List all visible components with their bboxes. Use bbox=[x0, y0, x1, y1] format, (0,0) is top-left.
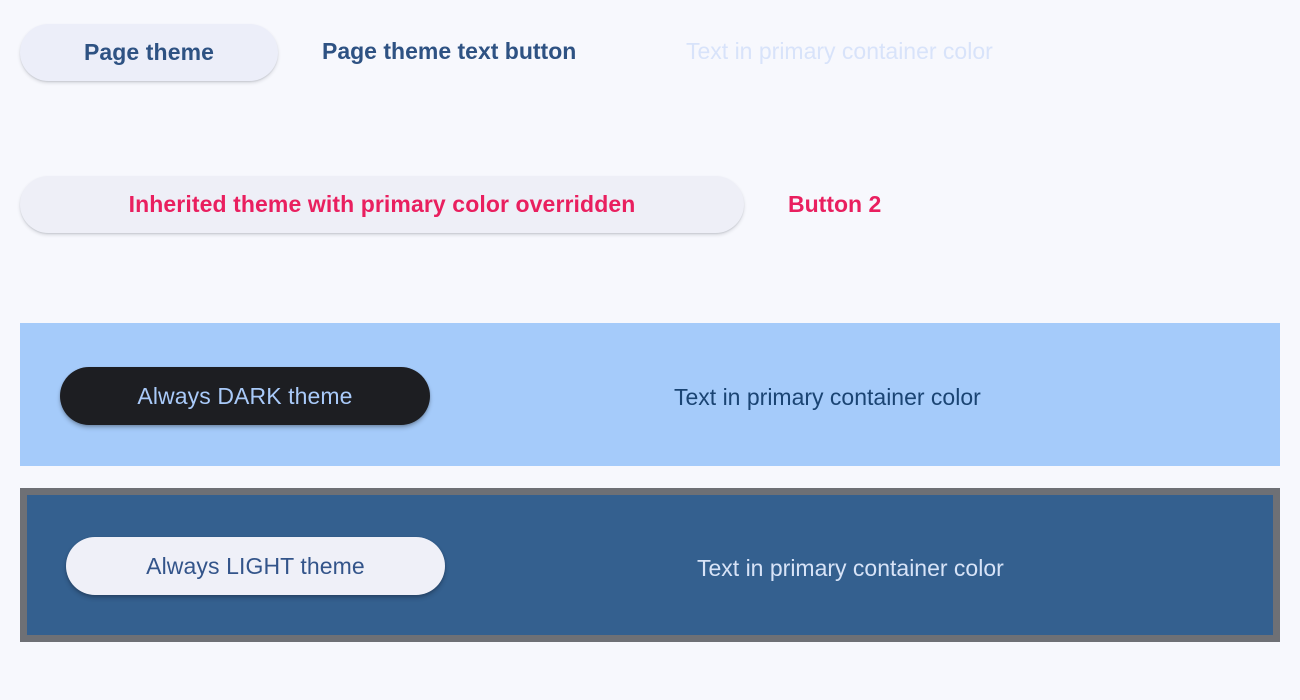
inherited-theme-chip-label: Inherited theme with primary color overr… bbox=[129, 191, 636, 218]
page-theme-chip-label: Page theme bbox=[84, 39, 214, 66]
inherited-theme-text-button[interactable]: Button 2 bbox=[788, 191, 881, 218]
page-theme-text-button[interactable]: Page theme text button bbox=[322, 38, 576, 65]
always-light-theme-button[interactable]: Always LIGHT theme bbox=[66, 537, 445, 595]
always-light-primary-container-text: Text in primary container color bbox=[697, 555, 1004, 582]
always-dark-primary-container-text: Text in primary container color bbox=[674, 384, 981, 411]
page-theme-primary-container-text: Text in primary container color bbox=[686, 38, 993, 65]
always-dark-theme-button[interactable]: Always DARK theme bbox=[60, 367, 430, 425]
always-light-theme-band: Always LIGHT theme Text in primary conta… bbox=[20, 488, 1280, 642]
page-theme-chip-button[interactable]: Page theme bbox=[20, 24, 278, 81]
inherited-theme-chip-button[interactable]: Inherited theme with primary color overr… bbox=[20, 176, 744, 233]
always-dark-theme-button-label: Always DARK theme bbox=[137, 383, 352, 410]
always-dark-theme-band: Always DARK theme Text in primary contai… bbox=[20, 323, 1280, 466]
theme-demo-page: Page theme Page theme text button Text i… bbox=[0, 0, 1300, 700]
always-light-theme-button-label: Always LIGHT theme bbox=[146, 553, 365, 580]
